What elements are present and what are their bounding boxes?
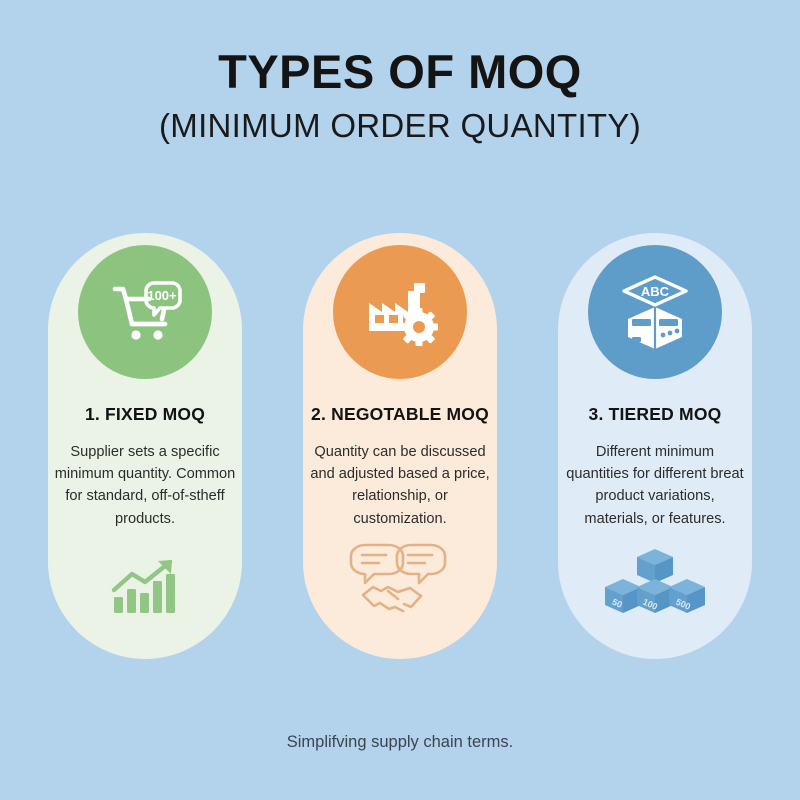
icon-badge-fixed-moq: 100+	[78, 245, 212, 379]
card-footer-icon-negotable-moq	[303, 539, 497, 617]
card-footer-icon-tiered-moq: 50 100 500	[558, 547, 752, 617]
cube-top-icon	[637, 549, 673, 583]
cart-wheel-left-icon	[131, 330, 140, 339]
cube-bottom-left-icon: 50	[605, 579, 641, 613]
infographic-canvas: TYPES OF MOQ (MINIMUM ORDER QUANTITY)	[0, 0, 800, 800]
shopping-cart-icon: 100+	[102, 269, 188, 355]
cube-bottom-right-icon: 500	[669, 579, 705, 613]
factory-gear-icon	[357, 269, 443, 355]
growth-bar-chart-icon	[108, 557, 182, 617]
card-title-fixed-moq: 1. FIXED MOQ	[85, 404, 205, 425]
icon-badge-negotable-moq	[333, 245, 467, 379]
page-title: TYPES OF MOQ	[0, 46, 800, 99]
header: TYPES OF MOQ (MINIMUM ORDER QUANTITY)	[0, 46, 800, 145]
card-negotable-moq[interactable]: 2. NEGOTABLE MOQ Quantity can be discuss…	[303, 233, 497, 659]
card-footer-icon-fixed-moq	[48, 557, 242, 617]
cart-badge-label: 100+	[147, 288, 177, 303]
cart-wheel-right-icon	[153, 330, 162, 339]
gear-icon	[400, 308, 438, 346]
card-body-fixed-moq: Supplier sets a specific minimum quantit…	[54, 441, 236, 530]
box-lid-label: ABC	[641, 284, 670, 299]
open-box-abc-icon: ABC	[612, 269, 698, 355]
card-fixed-moq[interactable]: 100+ 1. FIXED MOQ Supplier sets a specif…	[48, 233, 242, 659]
handshake-icon	[363, 587, 421, 611]
box-lid-icon: ABC	[624, 277, 686, 305]
card-title-tiered-moq: 3. TIERED MOQ	[589, 404, 722, 425]
card-body-negotable-moq: Quantity can be discussed and adjusted b…	[309, 441, 491, 530]
page-subtitle: (MINIMUM ORDER QUANTITY)	[0, 107, 800, 145]
box-body-icon	[628, 307, 682, 349]
card-title-negotable-moq: 2. NEGOTABLE MOQ	[311, 404, 489, 425]
moq-type-cards: 100+ 1. FIXED MOQ Supplier sets a specif…	[48, 233, 752, 659]
card-tiered-moq[interactable]: ABC 3. TIERED MOQ Different minimu	[558, 233, 752, 659]
stacked-cubes-icon: 50 100 500	[603, 547, 707, 617]
card-body-tiered-moq: Different minimum quantities for differe…	[564, 441, 746, 530]
cube-bottom-middle-icon: 100	[637, 579, 673, 613]
icon-badge-tiered-moq: ABC	[588, 245, 722, 379]
handshake-speech-bubbles-icon	[345, 539, 455, 617]
footer-tagline: Simplifving supply chain terms.	[0, 733, 800, 752]
